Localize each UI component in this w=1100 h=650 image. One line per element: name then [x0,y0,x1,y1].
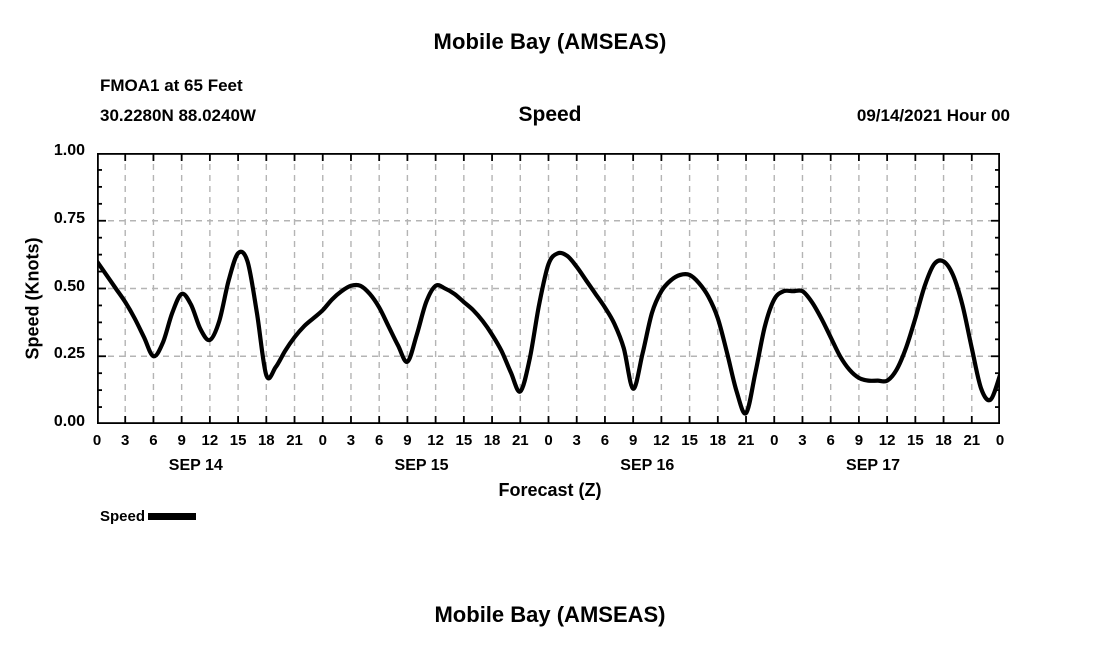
x-tick-label: 9 [167,432,197,449]
x-tick-label: 21 [505,432,535,449]
x-tick-label: 6 [364,432,394,449]
y-tick-label: 0.00 [25,413,85,431]
x-tick-label: 18 [477,432,507,449]
x-tick-label: 9 [392,432,422,449]
legend: Speed [100,508,196,525]
day-label: SEP 14 [136,457,256,475]
x-tick-label: 18 [251,432,281,449]
x-tick-label: 6 [590,432,620,449]
y-tick-label: 0.50 [25,278,85,296]
x-tick-label: 12 [195,432,225,449]
x-tick-label: 15 [675,432,705,449]
x-tick-label: 3 [562,432,592,449]
x-tick-label: 9 [844,432,874,449]
x-tick-label: 21 [957,432,987,449]
top-chart-title: Mobile Bay (AMSEAS) [0,29,1100,55]
x-tick-label: 21 [731,432,761,449]
x-tick-label: 0 [308,432,338,449]
x-tick-label: 15 [223,432,253,449]
day-label: SEP 16 [587,457,707,475]
x-tick-label: 12 [421,432,451,449]
bottom-chart-title: Mobile Bay (AMSEAS) [0,602,1100,628]
legend-label: Speed [100,508,145,525]
y-tick-label: 0.25 [25,345,85,363]
x-tick-label: 0 [985,432,1015,449]
x-tick-label: 6 [816,432,846,449]
x-tick-label: 0 [82,432,112,449]
model-run-time-label: 09/14/2021 Hour 00 [857,106,1010,126]
y-tick-label: 1.00 [25,142,85,160]
station-name-label: FMOA1 at 65 Feet [100,76,243,96]
legend-color-swatch [148,513,196,520]
x-tick-label: 3 [336,432,366,449]
speed-line-chart [97,153,1000,424]
x-tick-label: 0 [759,432,789,449]
x-tick-label: 21 [280,432,310,449]
x-tick-label: 15 [900,432,930,449]
x-tick-label: 12 [646,432,676,449]
x-tick-label: 18 [929,432,959,449]
plot-area [97,153,1000,424]
x-tick-label: 3 [110,432,140,449]
x-tick-label: 9 [618,432,648,449]
x-tick-label: 6 [138,432,168,449]
x-tick-label: 15 [449,432,479,449]
x-tick-label: 3 [787,432,817,449]
y-tick-label: 0.75 [25,210,85,228]
x-tick-label: 18 [703,432,733,449]
x-tick-label: 0 [534,432,564,449]
day-label: SEP 17 [813,457,933,475]
day-label: SEP 15 [362,457,482,475]
x-tick-label: 12 [872,432,902,449]
x-axis-label: Forecast (Z) [0,480,1100,501]
